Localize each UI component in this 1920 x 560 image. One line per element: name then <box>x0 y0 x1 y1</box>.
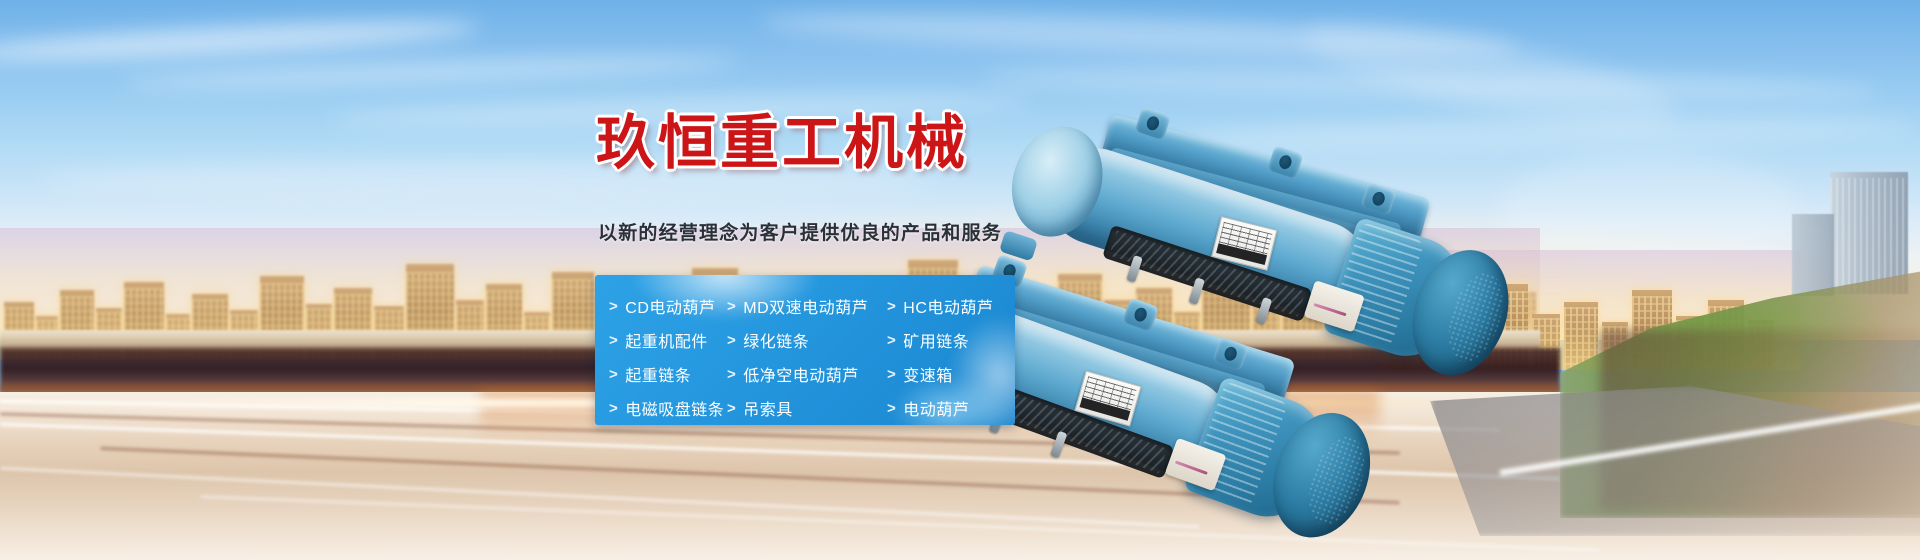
product-link-label: 起重机配件 <box>625 328 708 352</box>
product-link-hc-hoist[interactable]: > HC电动葫芦 <box>887 294 993 318</box>
product-link-label: 变速箱 <box>903 362 953 386</box>
product-link-slings[interactable]: > 吊索具 <box>727 396 887 420</box>
hero-banner: 玖恒重工机械 以新的经营理念为客户提供优良的产品和服务 > CD电动葫芦 > M… <box>0 0 1920 560</box>
product-link-md-dual-speed-hoist[interactable]: > MD双速电动葫芦 <box>727 294 887 318</box>
product-link-magnetic-chuck-chain[interactable]: > 电磁吸盘链条 <box>609 396 727 420</box>
chevron-right-icon: > <box>609 298 618 315</box>
product-link-label: HC电动葫芦 <box>903 294 993 318</box>
chevron-right-icon: > <box>887 400 896 417</box>
chevron-right-icon: > <box>609 332 618 349</box>
chevron-right-icon: > <box>887 332 896 349</box>
product-link-label: 低净空电动葫芦 <box>743 362 859 386</box>
chevron-right-icon: > <box>609 366 618 383</box>
page-title: 玖恒重工机械 <box>596 112 968 174</box>
page-subtitle: 以新的经营理念为客户提供优良的产品和服务 <box>598 222 1002 246</box>
product-links-panel: > CD电动葫芦 > MD双速电动葫芦 > HC电动葫芦 > 起重机配件 <box>595 275 1015 425</box>
product-link-label: CD电动葫芦 <box>625 294 715 318</box>
skyscraper <box>1830 172 1908 294</box>
product-link-mining-chain[interactable]: > 矿用链条 <box>887 328 969 352</box>
product-links-row: > CD电动葫芦 > MD双速电动葫芦 > HC电动葫芦 <box>609 289 1015 323</box>
chevron-right-icon: > <box>727 332 736 349</box>
product-link-cd-hoist[interactable]: > CD电动葫芦 <box>609 294 727 318</box>
product-link-low-headroom-hoist[interactable]: > 低净空电动葫芦 <box>727 362 887 386</box>
product-link-crane-parts[interactable]: > 起重机配件 <box>609 328 727 352</box>
product-links-row: > 电磁吸盘链条 > 吊索具 > 电动葫芦 <box>609 391 1015 425</box>
chevron-right-icon: > <box>727 298 736 315</box>
product-link-label: 吊索具 <box>743 396 793 420</box>
skyscraper <box>1792 214 1834 296</box>
chevron-right-icon: > <box>887 366 896 383</box>
chevron-right-icon: > <box>727 400 736 417</box>
product-link-label: MD双速电动葫芦 <box>743 294 868 318</box>
product-links-row: > 起重链条 > 低净空电动葫芦 > 变速箱 <box>609 357 1015 391</box>
product-link-label: 电动葫芦 <box>903 396 969 420</box>
product-link-label: 起重链条 <box>625 362 691 386</box>
product-link-lifting-chain[interactable]: > 起重链条 <box>609 362 727 386</box>
product-links-row: > 起重机配件 > 绿化链条 > 矿用链条 <box>609 323 1015 357</box>
product-links-grid: > CD电动葫芦 > MD双速电动葫芦 > HC电动葫芦 > 起重机配件 <box>595 275 1015 425</box>
product-link-label: 矿用链条 <box>903 328 969 352</box>
chevron-right-icon: > <box>887 298 896 315</box>
product-link-electric-hoist[interactable]: > 电动葫芦 <box>887 396 969 420</box>
chevron-right-icon: > <box>727 366 736 383</box>
product-link-label: 绿化链条 <box>743 328 809 352</box>
product-link-label: 电磁吸盘链条 <box>625 396 724 420</box>
product-link-greening-chain[interactable]: > 绿化链条 <box>727 328 887 352</box>
chevron-right-icon: > <box>609 400 618 417</box>
product-link-gearbox[interactable]: > 变速箱 <box>887 362 953 386</box>
